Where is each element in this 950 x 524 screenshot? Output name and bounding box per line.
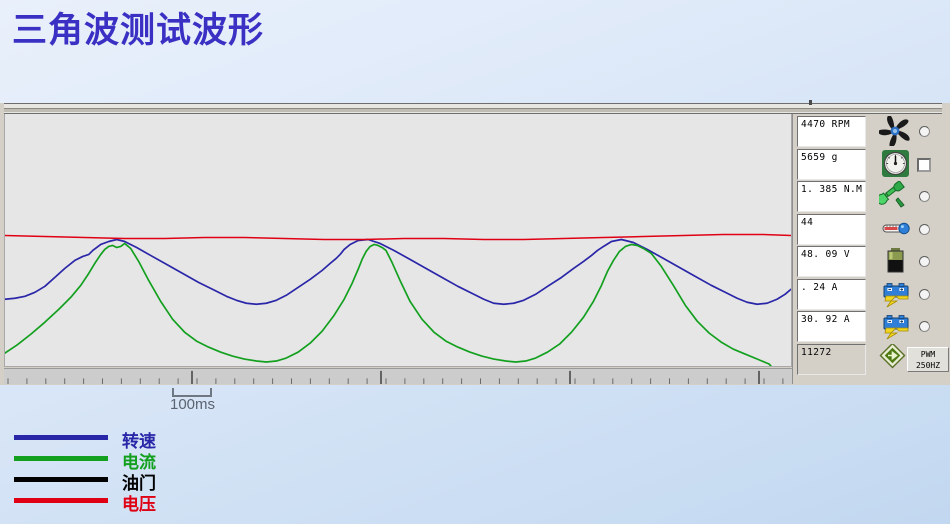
readout-panel: 4470 RPM 5659 g 1. 385 N.M 44 <box>792 114 946 384</box>
readout-row: 48. 09 V <box>797 246 943 278</box>
readout-row: 11272 PWM250HZ <box>797 344 943 376</box>
readout-row: 1. 385 N.M <box>797 181 943 213</box>
legend-color-swatch <box>14 498 108 503</box>
readout-value-field[interactable]: 4470 RPM <box>797 116 866 147</box>
series-line <box>5 240 791 305</box>
readout-value-field[interactable]: 5659 g <box>797 149 866 180</box>
application-root: 三角波测试波形 4470 RPM 5659 g <box>0 0 950 524</box>
time-scale-label: 100ms <box>170 396 250 413</box>
scrollbar-track <box>4 108 942 112</box>
readout-radio-button[interactable] <box>919 289 930 300</box>
readout-value-field[interactable]: . 24 A <box>797 279 866 310</box>
readout-radio-button[interactable] <box>919 126 930 137</box>
readout-radio-button[interactable] <box>919 256 930 267</box>
series-line <box>5 243 791 366</box>
readout-row: 44 <box>797 214 943 246</box>
battery-icon <box>879 246 913 276</box>
window-top-scrollbar[interactable] <box>4 103 942 114</box>
legend-color-swatch <box>14 435 108 440</box>
chart-legend: 转速电流油门电压 <box>14 428 274 516</box>
pwm-label-line1: PWM <box>908 349 948 360</box>
car-battery-icon <box>879 279 913 309</box>
readout-checkbox[interactable] <box>917 158 931 172</box>
readout-radio-button[interactable] <box>919 321 930 332</box>
waveform-plot[interactable] <box>4 114 792 367</box>
wrench-icon <box>879 181 913 211</box>
gauge-icon <box>879 149 913 179</box>
thermometer-icon <box>879 214 913 244</box>
waveform-canvas <box>5 114 791 366</box>
readout-row: . 24 A <box>797 279 943 311</box>
legend-item: 电压 <box>14 491 274 512</box>
readout-value-field[interactable]: 48. 09 V <box>797 246 866 277</box>
readout-value-field[interactable]: 30. 92 A <box>797 311 866 342</box>
legend-label: 电压 <box>122 490 156 515</box>
legend-color-swatch <box>14 477 108 482</box>
readout-row: 30. 92 A <box>797 311 943 343</box>
readout-radio-button[interactable] <box>919 191 930 202</box>
legend-item: 电流 <box>14 449 274 470</box>
legend-color-swatch <box>14 456 108 461</box>
pwm-frequency-button[interactable]: PWM250HZ <box>907 347 949 372</box>
car-battery-icon <box>879 311 913 341</box>
readout-value-field[interactable]: 44 <box>797 214 866 245</box>
legend-item: 转速 <box>14 428 274 449</box>
readout-value-field[interactable]: 11272 <box>797 344 866 375</box>
series-line <box>5 235 791 240</box>
readout-value-field[interactable]: 1. 385 N.M <box>797 181 866 212</box>
time-ruler <box>4 368 792 384</box>
legend-item: 油门 <box>14 470 274 491</box>
propeller-icon <box>879 116 913 146</box>
readout-row: 4470 RPM <box>797 116 943 148</box>
title-bar: 三角波测试波形 <box>0 0 950 100</box>
scrollbar-marker <box>809 100 812 105</box>
readout-radio-button[interactable] <box>919 224 930 235</box>
page-title: 三角波测试波形 <box>12 10 264 52</box>
pwm-label-line2: 250HZ <box>908 360 948 371</box>
instrument-window: 4470 RPM 5659 g 1. 385 N.M 44 <box>0 103 950 385</box>
readout-row: 5659 g <box>797 149 943 181</box>
time-scale-marker: 100ms <box>172 388 282 422</box>
